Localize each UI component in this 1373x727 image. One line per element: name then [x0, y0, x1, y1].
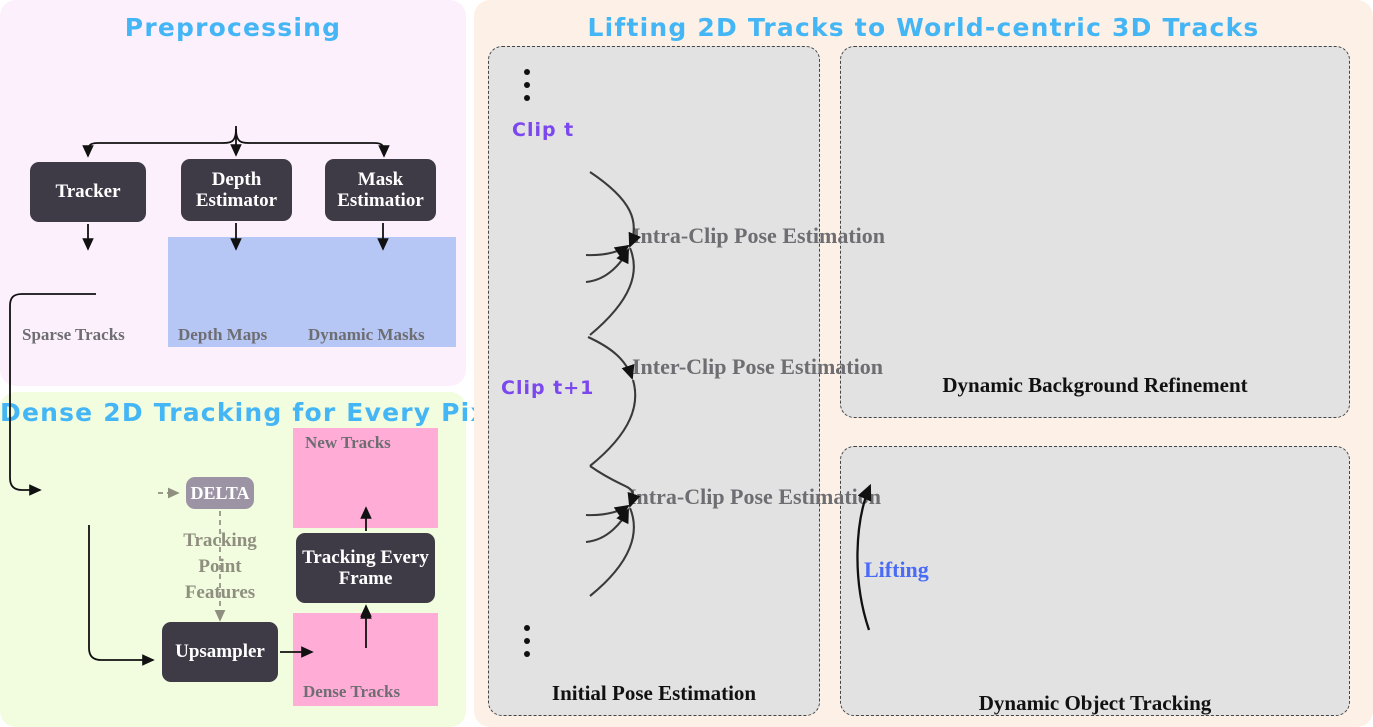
label-tracking-point-features: Tracking Point Features: [166, 528, 274, 607]
panel-lifting-title: Lifting 2D Tracks to World-centric 3D Tr…: [474, 13, 1373, 42]
card-dynamic-background-refinement: [840, 46, 1350, 418]
caption-dense-tracks: Dense Tracks: [303, 682, 400, 702]
label-lifting: Lifting: [864, 557, 929, 583]
panel-preprocessing-title: Preprocessing: [0, 13, 466, 42]
node-tracker[interactable]: Tracker: [30, 162, 146, 222]
caption-new-tracks: New Tracks: [305, 433, 391, 453]
node-delta[interactable]: DELTA: [186, 477, 254, 509]
label-clip-t-plus-1: Clip t+1: [501, 377, 594, 399]
label-clip-t: Clip t: [512, 119, 574, 141]
label-intra-clip-pose-estimation-top: Intra-Clip Pose Estimation: [632, 220, 812, 252]
label-inter-clip-pose-estimation: Inter-Clip Pose Estimation: [632, 351, 812, 383]
card-footer-dynamic-background: Dynamic Background Refinement: [840, 373, 1350, 398]
label-intra-clip-pose-estimation-bottom: Intra-Clip Pose Estimation: [628, 481, 808, 513]
diagram-root: Preprocessing Tracker Depth Estimator Ma…: [0, 0, 1373, 727]
ellipsis-dots-bottom: [524, 625, 531, 664]
node-tracking-every-frame[interactable]: Tracking Every Frame: [296, 533, 435, 603]
ellipsis-dots-top: [524, 69, 531, 108]
node-depth-estimator[interactable]: Depth Estimator: [181, 159, 292, 221]
caption-depth-maps: Depth Maps: [178, 325, 267, 345]
node-mask-estimator[interactable]: Mask Estimatior: [325, 159, 436, 221]
caption-sparse-tracks: Sparse Tracks: [22, 325, 125, 345]
card-footer-initial-pose: Initial Pose Estimation: [488, 681, 820, 706]
card-footer-dynamic-object: Dynamic Object Tracking: [840, 691, 1350, 716]
node-upsampler[interactable]: Upsampler: [162, 622, 278, 682]
panel-dense-tracking-title: Dense 2D Tracking for Every Pixel: [0, 398, 466, 427]
caption-dynamic-masks: Dynamic Masks: [308, 325, 425, 345]
